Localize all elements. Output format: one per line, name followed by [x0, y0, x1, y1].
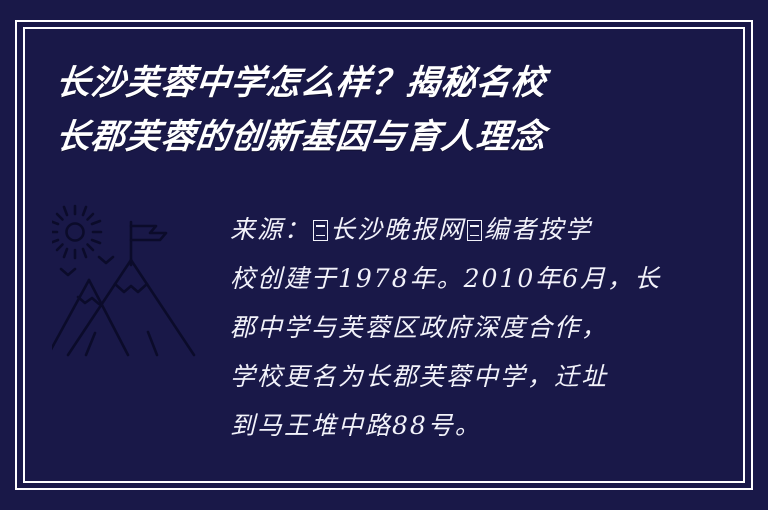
body-line: 郡中学与芙蓉区政府深度合作，	[230, 303, 682, 352]
title-line-2: 长郡芙蓉的创新基因与育人理念	[53, 110, 719, 164]
flag-icon	[131, 222, 166, 265]
body-text-segment: 郡中学与芙蓉区政府深度合作，	[230, 313, 608, 342]
bird-icon	[99, 257, 113, 263]
mountain-small	[52, 280, 128, 355]
body-text: 来源：长沙晚报网编者按学 校创建于1978年。2010年6月，长 郡中学与芙蓉区…	[230, 205, 682, 450]
body-line: 到马王堆中路88号。	[230, 401, 682, 450]
body-text-segment: 学校更名为长郡芙蓉中学，迁址	[230, 362, 608, 391]
bird-icon	[61, 269, 75, 275]
missing-glyph-box	[313, 220, 328, 241]
body-text-segment: 到马王堆中路88号。	[230, 411, 482, 440]
body-text-segment: 来源：	[230, 215, 311, 244]
title-line-1: 长沙芙蓉中学怎么样？揭秘名校	[53, 56, 719, 110]
sun-icon	[52, 206, 101, 258]
body-line: 学校更名为长郡芙蓉中学，迁址	[230, 352, 682, 401]
body-line: 校创建于1978年。2010年6月，长	[230, 254, 682, 303]
body-line: 来源：长沙晚报网编者按学	[230, 205, 682, 254]
page-title: 长沙芙蓉中学怎么样？揭秘名校 长郡芙蓉的创新基因与育人理念	[56, 56, 716, 164]
body-text-segment: 校创建于1978年。2010年6月，长	[230, 264, 661, 293]
mountain-large	[68, 260, 194, 355]
missing-glyph-box	[467, 220, 482, 241]
article-card: 长沙芙蓉中学怎么样？揭秘名校 长郡芙蓉的创新基因与育人理念	[0, 0, 768, 510]
body-text-segment: 编者按学	[484, 215, 592, 244]
body-text-segment: 长沙晚报网	[330, 215, 465, 244]
mountain-flag-illustration	[52, 192, 232, 372]
